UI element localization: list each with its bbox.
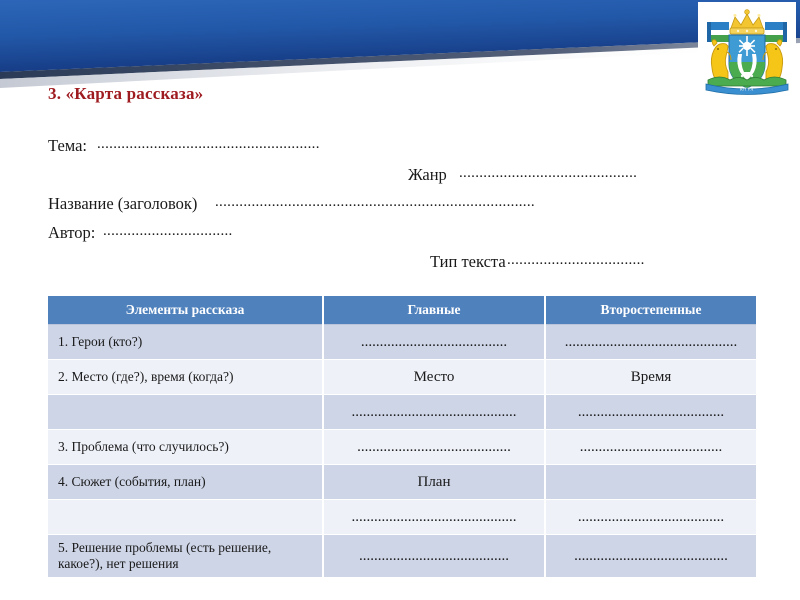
row-main-cell[interactable]: ....................................... bbox=[323, 325, 545, 360]
table-row: 4. Сюжет (события, план)План bbox=[48, 465, 756, 500]
table-row: 5. Решение проблемы (есть решение, какое… bbox=[48, 535, 756, 578]
table-row: ........................................… bbox=[48, 500, 756, 535]
row-element-label bbox=[48, 395, 323, 430]
title-fill-blank[interactable]: ........................................… bbox=[215, 194, 535, 211]
banner-edge-stripe bbox=[0, 38, 800, 79]
topic-fill-blank[interactable]: ........................................… bbox=[97, 136, 320, 153]
text-type-label: Тип текста bbox=[430, 252, 506, 272]
form-row-author: Автор: ................................ bbox=[0, 223, 800, 252]
row-main-cell[interactable]: План bbox=[323, 465, 545, 500]
column-header-elements: Элементы рассказа bbox=[48, 296, 323, 325]
page-title: 3. «Карта рассказа» bbox=[48, 84, 203, 104]
row-main-cell[interactable]: ........................................… bbox=[323, 500, 545, 535]
story-map-form: Тема: ..................................… bbox=[0, 136, 800, 281]
topic-label: Тема: bbox=[48, 136, 87, 156]
row-element-label: 2. Место (где?), время (когда?) bbox=[48, 360, 323, 395]
table-header: Элементы рассказа Главные Второстепенные bbox=[48, 296, 756, 325]
row-element-label: 5. Решение проблемы (есть решение, какое… bbox=[48, 535, 323, 578]
table-row: 2. Место (где?), время (когда?)МестоВрем… bbox=[48, 360, 756, 395]
row-element-label: 1. Герои (кто?) bbox=[48, 325, 323, 360]
table-header-row: Элементы рассказа Главные Второстепенные bbox=[48, 296, 756, 325]
table-row: 1. Герои (кто?).........................… bbox=[48, 325, 756, 360]
text-type-fill-blank[interactable]: .................................. bbox=[507, 252, 645, 269]
banner-shadow bbox=[0, 43, 800, 88]
row-secondary-cell[interactable]: ...................................... bbox=[545, 430, 756, 465]
left-flag-icon bbox=[707, 22, 729, 42]
row-main-cell[interactable]: Место bbox=[323, 360, 545, 395]
row-secondary-cell[interactable]: Время bbox=[545, 360, 756, 395]
row-element-label bbox=[48, 500, 323, 535]
genre-label: Жанр bbox=[408, 165, 447, 185]
row-secondary-cell[interactable]: ........................................… bbox=[545, 535, 756, 578]
form-row-text-type: Тип текста .............................… bbox=[0, 252, 800, 281]
form-row-genre: Жанр ...................................… bbox=[0, 165, 800, 194]
form-row-title: Название (заголовок) ...................… bbox=[0, 194, 800, 223]
row-main-cell[interactable]: ........................................… bbox=[323, 395, 545, 430]
row-main-cell[interactable]: ........................................… bbox=[323, 430, 545, 465]
khanty-mansi-coat-of-arms-icon: ЮГРА bbox=[698, 2, 796, 100]
coat-of-arms-emblem: ЮГРА bbox=[698, 2, 796, 100]
table-body: 1. Герои (кто?).........................… bbox=[48, 325, 756, 578]
banner-blue-wedge bbox=[0, 0, 800, 72]
row-element-label: 4. Сюжет (события, план) bbox=[48, 465, 323, 500]
form-row-topic: Тема: ..................................… bbox=[0, 136, 800, 165]
genre-fill-blank[interactable]: ........................................… bbox=[459, 165, 637, 182]
column-header-secondary: Второстепенные bbox=[545, 296, 756, 325]
column-header-main: Главные bbox=[323, 296, 545, 325]
row-secondary-cell[interactable]: ........................................… bbox=[545, 325, 756, 360]
author-fill-blank[interactable]: ................................ bbox=[103, 223, 233, 240]
story-map-table: Элементы рассказа Главные Второстепенные… bbox=[48, 296, 756, 578]
row-secondary-cell[interactable]: ....................................... bbox=[545, 395, 756, 430]
row-secondary-cell[interactable] bbox=[545, 465, 756, 500]
table-row: 3. Проблема (что случилось?)............… bbox=[48, 430, 756, 465]
table-row: ........................................… bbox=[48, 395, 756, 430]
row-secondary-cell[interactable]: ....................................... bbox=[545, 500, 756, 535]
author-label: Автор: bbox=[48, 223, 95, 243]
svg-text:ЮГРА: ЮГРА bbox=[740, 87, 754, 92]
row-main-cell[interactable]: ........................................ bbox=[323, 535, 545, 578]
row-element-label: 3. Проблема (что случилось?) bbox=[48, 430, 323, 465]
right-flag-icon bbox=[765, 22, 787, 42]
title-label: Название (заголовок) bbox=[48, 194, 197, 214]
